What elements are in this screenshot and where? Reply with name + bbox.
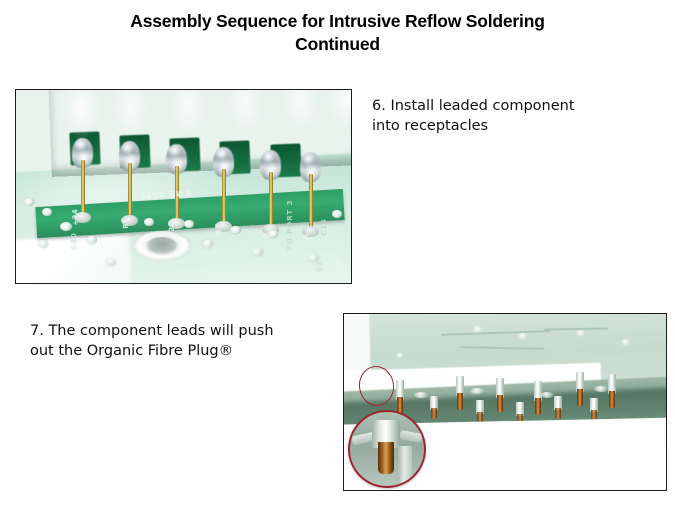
magnified-inset-detail: [348, 410, 426, 488]
copper-lead-tip: [457, 393, 463, 410]
pcb-via: [144, 218, 154, 226]
silkscreen-pin-label: 2D: [167, 220, 176, 232]
inset-adjacent-lead: [398, 446, 412, 486]
pcb-via: [42, 208, 52, 216]
pcb-pad: [621, 339, 630, 346]
gold-lead: [269, 172, 273, 226]
silkscreen-pin-label: A: [302, 234, 310, 240]
step-7-text: 7. The component leads will push out the…: [30, 321, 340, 361]
pcb-via: [332, 210, 342, 218]
pcb-component-outline: [305, 254, 338, 276]
photo-bottom-underside: [343, 313, 667, 491]
pcb-pad: [396, 353, 404, 359]
step-6-text: 6. Install leaded component into recepta…: [372, 96, 662, 136]
silkscreen-pin-label: RF: [121, 217, 130, 229]
pcb-via: [268, 230, 278, 238]
inset-copper-lead-tip: [378, 442, 394, 474]
pcb-via: [86, 236, 97, 244]
pcb-pad: [470, 388, 484, 394]
photo-top-scene: +24 RF 2D RX B A LINK SW3 TO PORT 3 C16 …: [16, 90, 351, 283]
pcb-via: [184, 220, 194, 228]
gold-lead: [81, 160, 85, 214]
pcb-via: [230, 226, 241, 234]
pcb-via: [252, 248, 263, 256]
copper-lead-tip: [535, 398, 541, 415]
photo-top-connector: +24 RF 2D RX B A LINK SW3 TO PORT 3 C16 …: [15, 89, 352, 284]
pcb-pad: [414, 392, 428, 398]
pcb-via: [106, 258, 116, 266]
copper-lead-tip: [431, 408, 437, 419]
copper-lead-tip: [497, 395, 503, 412]
silkscreen-board-label: C20: [70, 232, 78, 250]
photo-bottom-scene: [344, 314, 666, 490]
pcb-via: [24, 198, 34, 206]
silkscreen-pin-label: +24: [71, 208, 80, 226]
pcb-via: [60, 222, 72, 231]
copper-lead-tip: [609, 391, 615, 408]
page-title-line-2: Continued: [0, 33, 675, 56]
pcb-pad: [576, 330, 585, 337]
copper-lead-tip: [577, 389, 583, 406]
silkscreen-board-label: C16: [320, 218, 328, 236]
page-title-line-1: Assembly Sequence for Intrusive Reflow S…: [130, 11, 544, 31]
gold-lead: [309, 174, 313, 228]
pcb-mounting-hole: [133, 231, 191, 261]
gold-lead: [222, 169, 226, 223]
pcb-pad: [594, 386, 608, 392]
gold-lead: [128, 163, 132, 217]
copper-lead-tip: [555, 408, 561, 419]
slide-canvas: Assembly Sequence for Intrusive Reflow S…: [0, 0, 675, 506]
inset-pad-right: [399, 430, 422, 443]
silkscreen-board-label: TO PORT 3: [286, 200, 294, 250]
silkscreen-pin-label: RX: [214, 223, 223, 235]
pcb-via: [202, 240, 213, 248]
pcb-pad: [540, 392, 554, 398]
pcb-via: [38, 240, 48, 248]
page-title: Assembly Sequence for Intrusive Reflow S…: [0, 10, 675, 56]
